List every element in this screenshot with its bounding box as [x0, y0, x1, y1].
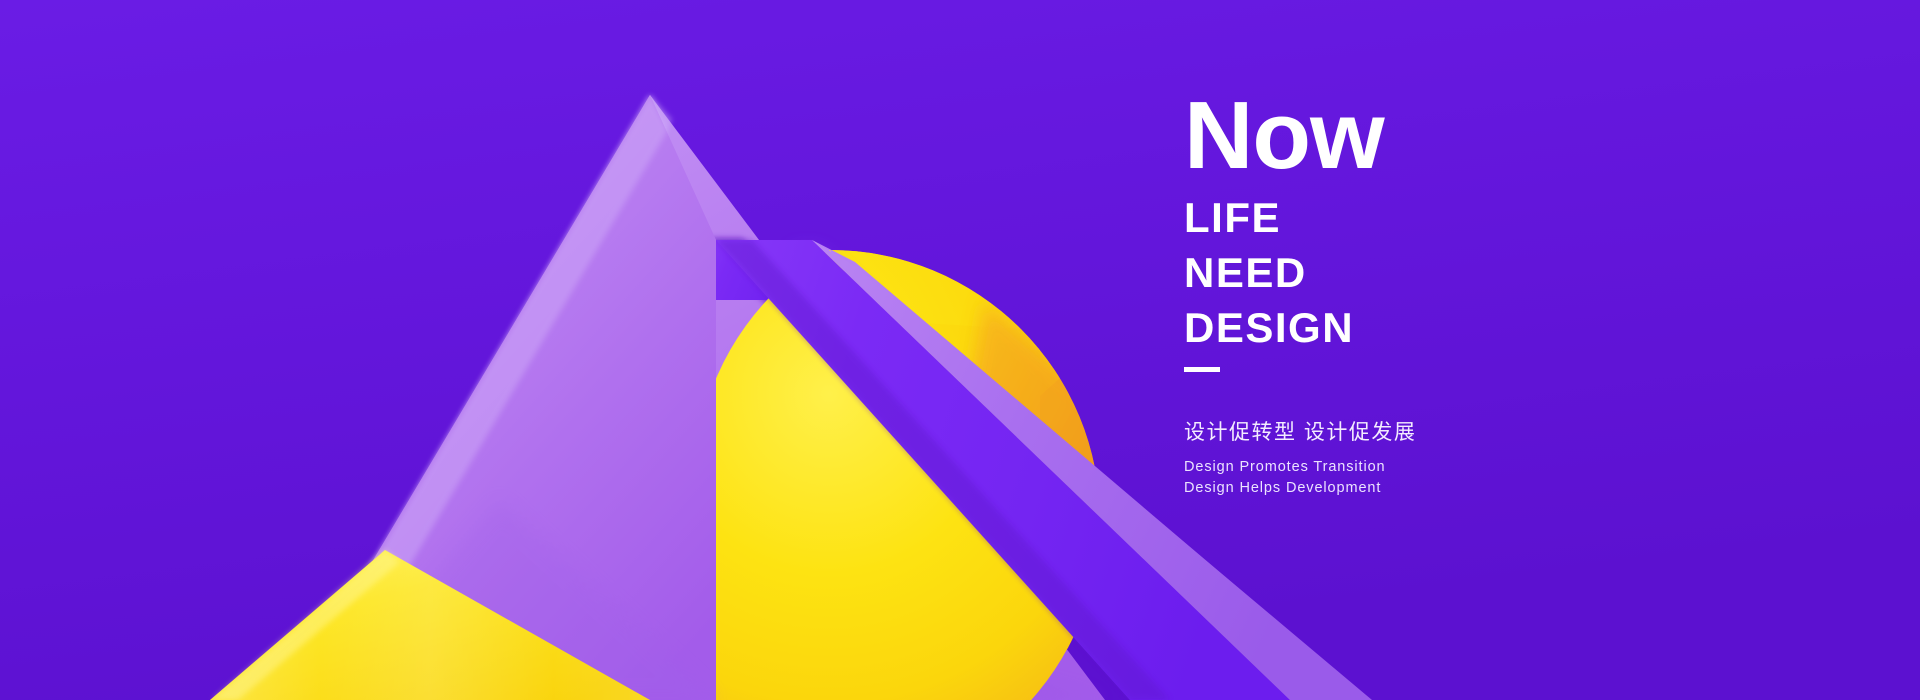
headline-line-2: NEED [1184, 251, 1704, 295]
headline-line-3: DESIGN [1184, 306, 1704, 350]
headline-now: Now [1184, 92, 1704, 180]
headline-line-1: LIFE [1184, 196, 1704, 240]
hero-banner: Now LIFE NEED DESIGN 设计促转型 设计促发展 Design … [0, 0, 1920, 700]
divider-rule [1184, 367, 1220, 372]
tagline-chinese: 设计促转型 设计促发展 [1184, 416, 1704, 446]
tagline-english-2: Design Helps Development [1184, 478, 1704, 499]
copy-block: Now LIFE NEED DESIGN 设计促转型 设计促发展 Design … [1184, 92, 1704, 498]
tagline-english-1: Design Promotes Transition [1184, 457, 1704, 478]
